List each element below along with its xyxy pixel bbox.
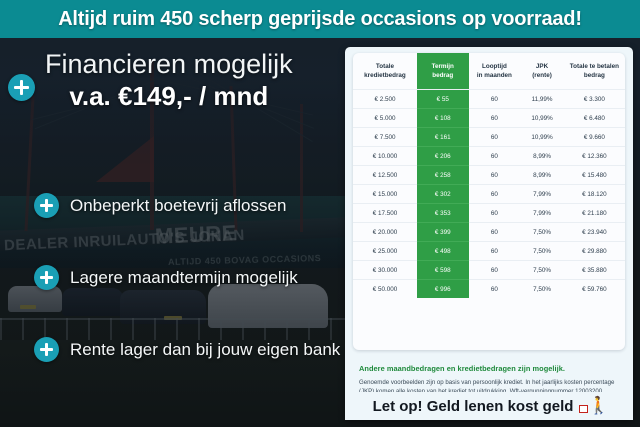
- table-cell-r7-c4: € 23.940: [564, 223, 625, 242]
- table-cell-r1-c0: € 5.000: [353, 109, 417, 128]
- table-cell-r5-c1: € 302: [417, 185, 469, 204]
- table-cell-r7-c1: € 399: [417, 223, 469, 242]
- table-header-cell-3: JPK(rente): [520, 53, 564, 90]
- benefit-label-3: Rente lager dan bij jouw eigen bank: [70, 340, 340, 360]
- table-cell-r1-c1: € 108: [417, 109, 469, 128]
- table-cell-r8-c0: € 25.000: [353, 242, 417, 261]
- hero-line-1: Financieren mogelijk: [45, 48, 293, 80]
- table-cell-r7-c2: 60: [469, 223, 521, 242]
- table-head: TotalekredietbedragTermijnbedragLooptijd…: [353, 53, 625, 90]
- table-cell-r2-c4: € 9.660: [564, 128, 625, 147]
- table-cell-r10-c2: 60: [469, 280, 521, 299]
- table-body: € 2.500€ 556011,99%€ 3.300€ 5.000€ 10860…: [353, 90, 625, 299]
- rate-table-panel: TotalekredietbedragTermijnbedragLooptijd…: [353, 53, 625, 350]
- table-cell-r9-c3: 7,50%: [520, 261, 564, 280]
- table-cell-r4-c2: 60: [469, 166, 521, 185]
- left-content-column: Financieren mogelijk v.a. €149,- / mnd O…: [0, 38, 345, 427]
- plus-icon: [34, 265, 59, 290]
- table-cell-r4-c3: 8,99%: [520, 166, 564, 185]
- table-row: € 25.000€ 498607,50%€ 29.880: [353, 242, 625, 261]
- table-cell-r5-c3: 7,99%: [520, 185, 564, 204]
- table-cell-r8-c4: € 29.880: [564, 242, 625, 261]
- top-headline-bar: Altijd ruim 450 scherp geprijsde occasio…: [0, 0, 640, 38]
- logo-walking-figure: 🚶: [588, 397, 609, 414]
- table-cell-r7-c3: 7,50%: [520, 223, 564, 242]
- table-cell-r8-c2: 60: [469, 242, 521, 261]
- table-row: € 30.000€ 598607,50%€ 35.880: [353, 261, 625, 280]
- table-row: € 20.000€ 399607,50%€ 23.940: [353, 223, 625, 242]
- table-cell-r8-c3: 7,50%: [520, 242, 564, 261]
- finance-promo-banner: DEALER INRUILAUTO'S JOHAN MEURE ALTIJD 4…: [0, 0, 640, 427]
- benefit-label-2: Lagere maandtermijn mogelijk: [70, 268, 298, 288]
- table-cell-r5-c4: € 18.120: [564, 185, 625, 204]
- hero-text-lines: Financieren mogelijk v.a. €149,- / mnd: [45, 48, 293, 112]
- table-cell-r8-c1: € 498: [417, 242, 469, 261]
- table-cell-r4-c0: € 12.500: [353, 166, 417, 185]
- table-cell-r7-c0: € 20.000: [353, 223, 417, 242]
- loan-rate-table: TotalekredietbedragTermijnbedragLooptijd…: [353, 53, 625, 298]
- table-row: € 5.000€ 1086010,99%€ 6.480: [353, 109, 625, 128]
- benefit-item-2: Lagere maandtermijn mogelijk: [34, 265, 298, 290]
- table-header-cell-1: Termijnbedrag: [417, 53, 469, 90]
- table-cell-r4-c1: € 258: [417, 166, 469, 185]
- plus-icon: [8, 74, 35, 101]
- table-cell-r6-c3: 7,99%: [520, 204, 564, 223]
- walking-person-logo-icon: 🚶: [579, 398, 605, 415]
- plus-icon: [34, 193, 59, 218]
- table-header-cell-4: Totale te betalenbedrag: [564, 53, 625, 90]
- table-row: € 17.500€ 353607,99%€ 21.180: [353, 204, 625, 223]
- note-title: Andere maandbedragen en kredietbedragen …: [359, 364, 621, 373]
- table-cell-r3-c4: € 12.360: [564, 147, 625, 166]
- benefit-item-1: Onbeperkt boetevrij aflossen: [34, 193, 286, 218]
- table-header-row: TotalekredietbedragTermijnbedragLooptijd…: [353, 53, 625, 90]
- benefit-label-1: Onbeperkt boetevrij aflossen: [70, 196, 286, 216]
- table-cell-r0-c2: 60: [469, 90, 521, 109]
- table-cell-r0-c3: 11,99%: [520, 90, 564, 109]
- table-cell-r4-c4: € 15.480: [564, 166, 625, 185]
- table-row: € 7.500€ 1616010,99%€ 9.660: [353, 128, 625, 147]
- table-cell-r3-c2: 60: [469, 147, 521, 166]
- top-headline-text: Altijd ruim 450 scherp geprijsde occasio…: [58, 8, 582, 31]
- table-cell-r9-c2: 60: [469, 261, 521, 280]
- logo-box-shape: [579, 405, 588, 413]
- table-header-cell-2: Looptijdin maanden: [469, 53, 521, 90]
- table-cell-r3-c0: € 10.000: [353, 147, 417, 166]
- table-row: € 12.500€ 258608,99%€ 15.480: [353, 166, 625, 185]
- table-cell-r2-c0: € 7.500: [353, 128, 417, 147]
- table-cell-r5-c0: € 15.000: [353, 185, 417, 204]
- table-cell-r2-c2: 60: [469, 128, 521, 147]
- table-cell-r1-c4: € 6.480: [564, 109, 625, 128]
- table-row: € 2.500€ 556011,99%€ 3.300: [353, 90, 625, 109]
- table-cell-r3-c1: € 206: [417, 147, 469, 166]
- table-row: € 10.000€ 206608,99%€ 12.360: [353, 147, 625, 166]
- table-cell-r6-c0: € 17.500: [353, 204, 417, 223]
- hero-claim: Financieren mogelijk v.a. €149,- / mnd: [8, 48, 293, 112]
- table-cell-r5-c2: 60: [469, 185, 521, 204]
- legal-warning-strip: Let op! Geld lenen kost geld 🚶: [345, 392, 633, 420]
- table-cell-r0-c1: € 55: [417, 90, 469, 109]
- legal-warning-text: Let op! Geld lenen kost geld: [373, 398, 574, 415]
- table-cell-r0-c4: € 3.300: [564, 90, 625, 109]
- table-cell-r2-c1: € 161: [417, 128, 469, 147]
- table-cell-r6-c2: 60: [469, 204, 521, 223]
- table-cell-r10-c0: € 50.000: [353, 280, 417, 299]
- table-cell-r9-c0: € 30.000: [353, 261, 417, 280]
- table-cell-r10-c1: € 996: [417, 280, 469, 299]
- table-cell-r2-c3: 10,99%: [520, 128, 564, 147]
- table-cell-r9-c4: € 35.880: [564, 261, 625, 280]
- plus-icon: [34, 337, 59, 362]
- table-row: € 15.000€ 302607,99%€ 18.120: [353, 185, 625, 204]
- hero-line-2: v.a. €149,- / mnd: [45, 80, 293, 112]
- table-cell-r6-c4: € 21.180: [564, 204, 625, 223]
- table-cell-r10-c3: 7,50%: [520, 280, 564, 299]
- benefit-item-3: Rente lager dan bij jouw eigen bank: [34, 337, 340, 362]
- table-header-cell-0: Totalekredietbedrag: [353, 53, 417, 90]
- table-cell-r0-c0: € 2.500: [353, 90, 417, 109]
- table-row: € 50.000€ 996607,50%€ 59.760: [353, 280, 625, 299]
- table-cell-r1-c3: 10,99%: [520, 109, 564, 128]
- rate-table-card: TotalekredietbedragTermijnbedragLooptijd…: [345, 47, 633, 420]
- table-cell-r6-c1: € 353: [417, 204, 469, 223]
- table-cell-r9-c1: € 598: [417, 261, 469, 280]
- table-cell-r10-c4: € 59.760: [564, 280, 625, 299]
- table-cell-r3-c3: 8,99%: [520, 147, 564, 166]
- table-cell-r1-c2: 60: [469, 109, 521, 128]
